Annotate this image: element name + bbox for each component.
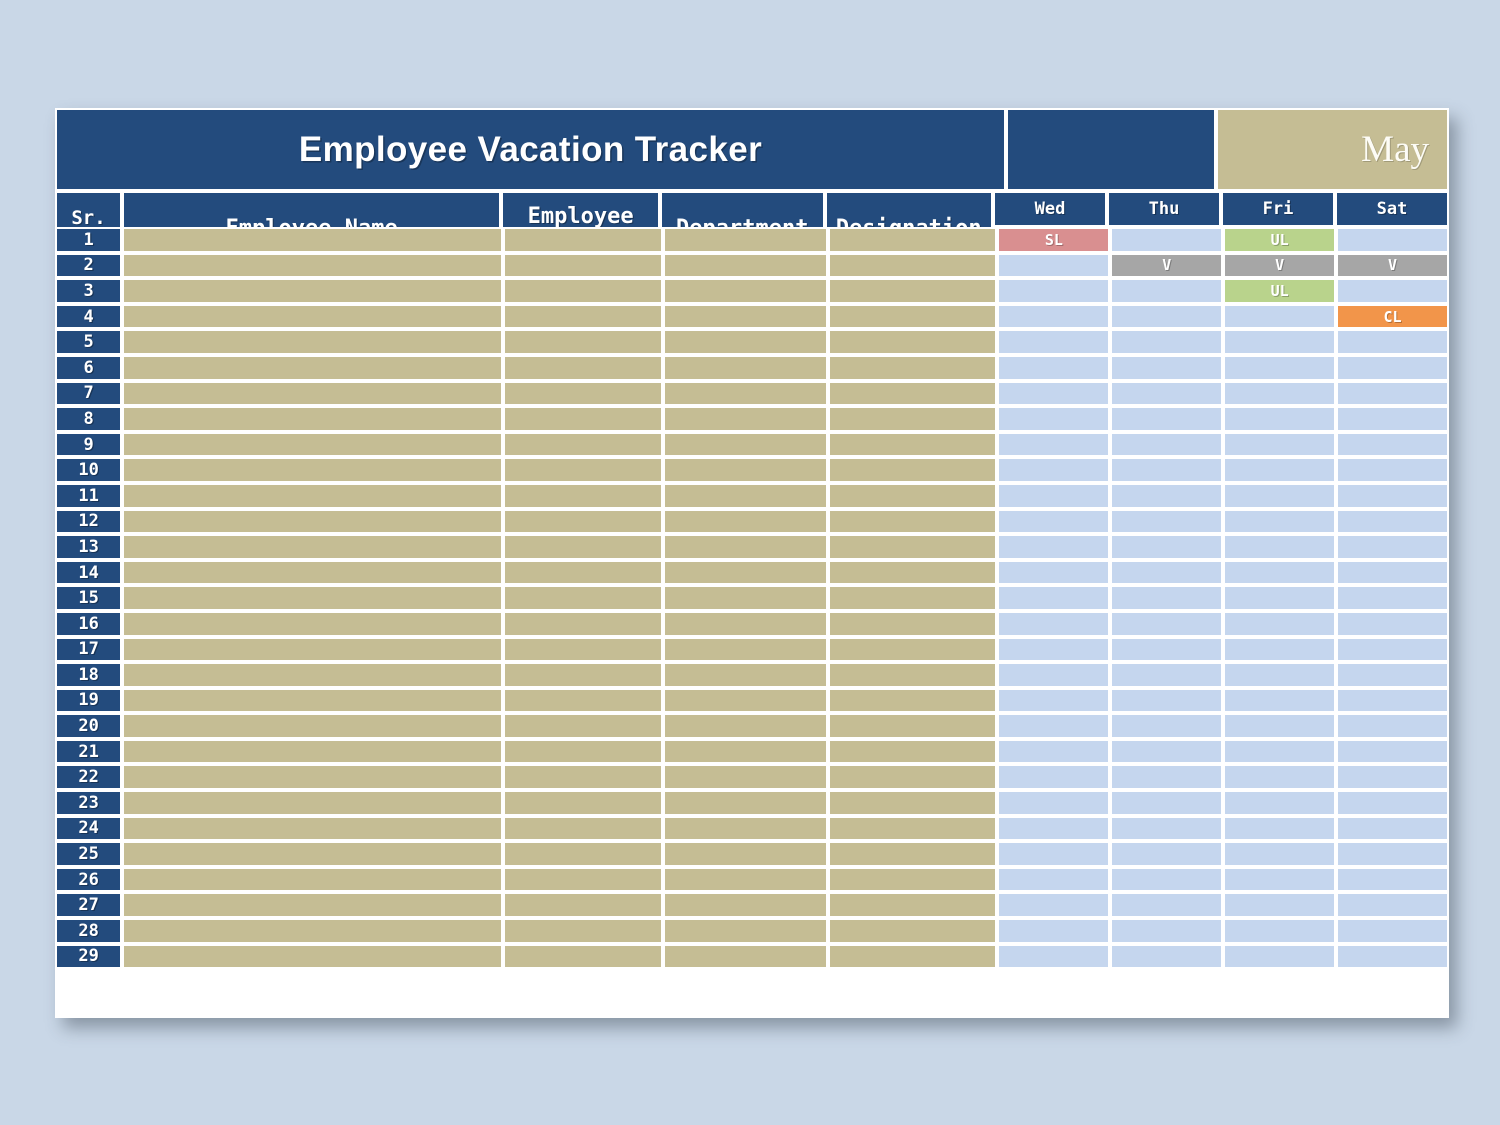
cell-day-2-May-row-12[interactable] <box>1110 509 1223 535</box>
cell-employee-id-6[interactable] <box>503 355 662 381</box>
cell-day-1-May-row-6[interactable] <box>997 355 1110 381</box>
cell-day-2-May-row-6[interactable] <box>1110 355 1223 381</box>
table-row: 5 <box>55 329 1449 355</box>
cell-day-1-May-row-13[interactable] <box>997 534 1110 560</box>
cell-day-1-May-row-11[interactable] <box>997 483 1110 509</box>
cell-employee-id-28[interactable] <box>503 918 662 944</box>
cell-department-26[interactable] <box>663 867 828 893</box>
cell-employee-id-4[interactable] <box>503 304 662 330</box>
cell-day-2-May-row-8[interactable] <box>1110 406 1223 432</box>
cell-day-3-May-row-6[interactable] <box>1223 355 1336 381</box>
cell-employee-id-21[interactable] <box>503 739 662 765</box>
cell-employee-name-8[interactable] <box>122 406 503 432</box>
header-dow-2: Fri <box>1221 191 1335 227</box>
table-row: 16 <box>55 611 1449 637</box>
cell-designation-3[interactable] <box>828 278 997 304</box>
cell-day-4-May-row-12[interactable] <box>1336 509 1449 535</box>
cell-day-1-May-row-2[interactable] <box>997 253 1110 279</box>
cell-day-4-May-row-29[interactable] <box>1336 944 1449 970</box>
cell-day-2-May-row-25[interactable] <box>1110 841 1223 867</box>
cell-day-1-May-row-5[interactable] <box>997 329 1110 355</box>
table-row: 13 <box>55 534 1449 560</box>
cell-day-1-May-row-27[interactable] <box>997 892 1110 918</box>
cell-designation-20[interactable] <box>828 713 997 739</box>
cell-day-3-May-row-28[interactable] <box>1223 918 1336 944</box>
cell-employee-id-27[interactable] <box>503 892 662 918</box>
row-number-21: 21 <box>55 739 122 765</box>
table-row: 12 <box>55 509 1449 535</box>
vacation-tracker-sheet: Employee Vacation Tracker May Sr. No. <box>55 108 1449 1018</box>
cell-day-2-May-row-24[interactable] <box>1110 816 1223 842</box>
page-title-cell: Employee Vacation Tracker <box>55 108 1006 191</box>
cell-designation-14[interactable] <box>828 560 997 586</box>
cell-day-1-May-row-8[interactable] <box>997 406 1110 432</box>
table-row: 10 <box>55 457 1449 483</box>
cell-employee-name-7[interactable] <box>122 381 503 407</box>
cell-designation-18[interactable] <box>828 662 997 688</box>
sheet-grid: Employee Vacation Tracker May Sr. No. <box>55 108 1449 969</box>
cell-day-4-May-row-19[interactable] <box>1336 688 1449 714</box>
cell-department-28[interactable] <box>663 918 828 944</box>
title-spacer-cell <box>1006 108 1216 191</box>
cell-day-3-May-row-10[interactable] <box>1223 457 1336 483</box>
header-dow-0: Wed <box>993 191 1107 227</box>
header-dow-1: Thu <box>1107 191 1221 227</box>
table-row: 2VVV <box>55 253 1449 279</box>
cell-day-2-May-row-11[interactable] <box>1110 483 1223 509</box>
cell-day-2-May-row-22[interactable] <box>1110 764 1223 790</box>
cell-day-3-May-row-19[interactable] <box>1223 688 1336 714</box>
cell-employee-name-27[interactable] <box>122 892 503 918</box>
cell-day-2-May-row-3[interactable] <box>1110 278 1223 304</box>
cell-day-3-May-row-9[interactable] <box>1223 432 1336 458</box>
cell-designation-17[interactable] <box>828 637 997 663</box>
cell-day-3-May-row-24[interactable] <box>1223 816 1336 842</box>
row-number-4: 4 <box>55 304 122 330</box>
cell-employee-name-25[interactable] <box>122 841 503 867</box>
cell-designation-2[interactable] <box>828 253 997 279</box>
cell-employee-name-19[interactable] <box>122 688 503 714</box>
cell-employee-name-10[interactable] <box>122 457 503 483</box>
table-row: 22 <box>55 764 1449 790</box>
row-number-24: 24 <box>55 816 122 842</box>
cell-day-4-May-row-18[interactable] <box>1336 662 1449 688</box>
table-row: 4CL <box>55 304 1449 330</box>
cell-department-12[interactable] <box>663 509 828 535</box>
cell-department-7[interactable] <box>663 381 828 407</box>
cell-day-4-May-row-5[interactable] <box>1336 329 1449 355</box>
cell-day-2-May-row-26[interactable] <box>1110 867 1223 893</box>
page-title: Employee Vacation Tracker <box>57 110 1004 189</box>
cell-day-4-May-row-17[interactable] <box>1336 637 1449 663</box>
cell-designation-11[interactable] <box>828 483 997 509</box>
cell-day-1-May-row-4[interactable] <box>997 304 1110 330</box>
cell-day-1-May-row-28[interactable] <box>997 918 1110 944</box>
status-UL-3-May-row-1[interactable]: UL <box>1223 227 1336 253</box>
cell-employee-id-19[interactable] <box>503 688 662 714</box>
cell-employee-id-17[interactable] <box>503 637 662 663</box>
cell-employee-id-10[interactable] <box>503 457 662 483</box>
cell-employee-id-25[interactable] <box>503 841 662 867</box>
table-row: 26 <box>55 867 1449 893</box>
cell-employee-id-18[interactable] <box>503 662 662 688</box>
cell-day-3-May-row-23[interactable] <box>1223 790 1336 816</box>
row-number-25: 25 <box>55 841 122 867</box>
row-number-26: 26 <box>55 867 122 893</box>
cell-department-20[interactable] <box>663 713 828 739</box>
cell-employee-name-26[interactable] <box>122 867 503 893</box>
cell-employee-name-16[interactable] <box>122 611 503 637</box>
cell-day-4-May-row-10[interactable] <box>1336 457 1449 483</box>
cell-designation-23[interactable] <box>828 790 997 816</box>
cell-day-3-May-row-12[interactable] <box>1223 509 1336 535</box>
cell-day-3-May-row-7[interactable] <box>1223 381 1336 407</box>
cell-department-18[interactable] <box>663 662 828 688</box>
cell-day-4-May-row-8[interactable] <box>1336 406 1449 432</box>
cell-day-3-May-row-11[interactable] <box>1223 483 1336 509</box>
cell-day-1-May-row-29[interactable] <box>997 944 1110 970</box>
cell-employee-name-22[interactable] <box>122 764 503 790</box>
cell-designation-13[interactable] <box>828 534 997 560</box>
cell-day-4-May-row-9[interactable] <box>1336 432 1449 458</box>
cell-day-2-May-row-7[interactable] <box>1110 381 1223 407</box>
cell-department-9[interactable] <box>663 432 828 458</box>
status-V-2-May-row-2[interactable]: V <box>1110 253 1223 279</box>
cell-department-8[interactable] <box>663 406 828 432</box>
cell-employee-name-14[interactable] <box>122 560 503 586</box>
cell-day-2-May-row-21[interactable] <box>1110 739 1223 765</box>
cell-day-3-May-row-21[interactable] <box>1223 739 1336 765</box>
row-number-3: 3 <box>55 278 122 304</box>
cell-designation-25[interactable] <box>828 841 997 867</box>
cell-day-1-May-row-15[interactable] <box>997 585 1110 611</box>
row-number-1: 1 <box>55 227 122 253</box>
cell-day-4-May-row-20[interactable] <box>1336 713 1449 739</box>
cell-department-17[interactable] <box>663 637 828 663</box>
cell-department-11[interactable] <box>663 483 828 509</box>
table-row: 21 <box>55 739 1449 765</box>
cell-day-4-May-row-1[interactable] <box>1336 227 1449 253</box>
cell-department-4[interactable] <box>663 304 828 330</box>
cell-designation-9[interactable] <box>828 432 997 458</box>
cell-employee-id-5[interactable] <box>503 329 662 355</box>
cell-employee-name-3[interactable] <box>122 278 503 304</box>
cell-day-1-May-row-18[interactable] <box>997 662 1110 688</box>
cell-day-2-May-row-5[interactable] <box>1110 329 1223 355</box>
cell-employee-id-3[interactable] <box>503 278 662 304</box>
status-UL-3-May-row-3[interactable]: UL <box>1223 278 1336 304</box>
row-number-2: 2 <box>55 253 122 279</box>
cell-employee-id-15[interactable] <box>503 585 662 611</box>
row-number-7: 7 <box>55 381 122 407</box>
cell-department-3[interactable] <box>663 278 828 304</box>
status-V-3-May-row-2[interactable]: V <box>1223 253 1336 279</box>
cell-department-24[interactable] <box>663 816 828 842</box>
cell-day-4-May-row-16[interactable] <box>1336 611 1449 637</box>
cell-day-1-May-row-19[interactable] <box>997 688 1110 714</box>
cell-employee-name-4[interactable] <box>122 304 503 330</box>
cell-employee-id-26[interactable] <box>503 867 662 893</box>
cell-department-10[interactable] <box>663 457 828 483</box>
header-employee-id-line1: Employee <box>528 205 634 230</box>
cell-employee-id-7[interactable] <box>503 381 662 407</box>
cell-department-16[interactable] <box>663 611 828 637</box>
cell-day-1-May-row-12[interactable] <box>997 509 1110 535</box>
title-spacer <box>1008 110 1214 189</box>
row-number-14: 14 <box>55 560 122 586</box>
cell-employee-name-12[interactable] <box>122 509 503 535</box>
cell-employee-id-16[interactable] <box>503 611 662 637</box>
cell-day-3-May-row-8[interactable] <box>1223 406 1336 432</box>
table-row: 1SLUL <box>55 227 1449 253</box>
cell-day-4-May-row-15[interactable] <box>1336 585 1449 611</box>
cell-designation-21[interactable] <box>828 739 997 765</box>
cell-employee-id-13[interactable] <box>503 534 662 560</box>
cell-day-1-May-row-22[interactable] <box>997 764 1110 790</box>
table-row: 3UL <box>55 278 1449 304</box>
cell-employee-name-13[interactable] <box>122 534 503 560</box>
cell-employee-id-8[interactable] <box>503 406 662 432</box>
cell-day-4-May-row-25[interactable] <box>1336 841 1449 867</box>
cell-day-4-May-row-24[interactable] <box>1336 816 1449 842</box>
header-dow-3: Sat <box>1335 191 1449 227</box>
cell-day-2-May-row-28[interactable] <box>1110 918 1223 944</box>
cell-designation-12[interactable] <box>828 509 997 535</box>
cell-day-1-May-row-17[interactable] <box>997 637 1110 663</box>
cell-day-3-May-row-14[interactable] <box>1223 560 1336 586</box>
table-row: 23 <box>55 790 1449 816</box>
cell-employee-id-20[interactable] <box>503 713 662 739</box>
cell-designation-10[interactable] <box>828 457 997 483</box>
cell-day-3-May-row-13[interactable] <box>1223 534 1336 560</box>
cell-employee-name-9[interactable] <box>122 432 503 458</box>
cell-employee-name-23[interactable] <box>122 790 503 816</box>
cell-designation-28[interactable] <box>828 918 997 944</box>
cell-designation-4[interactable] <box>828 304 997 330</box>
row-number-23: 23 <box>55 790 122 816</box>
header-row-dow: Sr. No. Employee Name Employee ID Depart… <box>55 191 1449 227</box>
cell-designation-24[interactable] <box>828 816 997 842</box>
cell-department-19[interactable] <box>663 688 828 714</box>
cell-designation-7[interactable] <box>828 381 997 407</box>
cell-employee-name-5[interactable] <box>122 329 503 355</box>
cell-day-2-May-row-1[interactable] <box>1110 227 1223 253</box>
cell-employee-id-11[interactable] <box>503 483 662 509</box>
cell-day-3-May-row-25[interactable] <box>1223 841 1336 867</box>
cell-designation-27[interactable] <box>828 892 997 918</box>
row-number-13: 13 <box>55 534 122 560</box>
cell-day-3-May-row-17[interactable] <box>1223 637 1336 663</box>
cell-day-2-May-row-17[interactable] <box>1110 637 1223 663</box>
cell-department-5[interactable] <box>663 329 828 355</box>
row-number-12: 12 <box>55 509 122 535</box>
cell-department-21[interactable] <box>663 739 828 765</box>
cell-department-1[interactable] <box>663 227 828 253</box>
cell-day-2-May-row-14[interactable] <box>1110 560 1223 586</box>
cell-department-27[interactable] <box>663 892 828 918</box>
cell-designation-1[interactable] <box>828 227 997 253</box>
cell-day-2-May-row-27[interactable] <box>1110 892 1223 918</box>
cell-department-22[interactable] <box>663 764 828 790</box>
table-row: 28 <box>55 918 1449 944</box>
cell-employee-name-28[interactable] <box>122 918 503 944</box>
cell-employee-name-2[interactable] <box>122 253 503 279</box>
cell-designation-8[interactable] <box>828 406 997 432</box>
cell-designation-5[interactable] <box>828 329 997 355</box>
cell-day-4-May-row-6[interactable] <box>1336 355 1449 381</box>
cell-day-4-May-row-22[interactable] <box>1336 764 1449 790</box>
table-row: 7 <box>55 381 1449 407</box>
cell-day-4-May-row-13[interactable] <box>1336 534 1449 560</box>
cell-day-2-May-row-16[interactable] <box>1110 611 1223 637</box>
cell-day-1-May-row-16[interactable] <box>997 611 1110 637</box>
table-row: 20 <box>55 713 1449 739</box>
row-number-16: 16 <box>55 611 122 637</box>
cell-day-3-May-row-29[interactable] <box>1223 944 1336 970</box>
row-number-18: 18 <box>55 662 122 688</box>
cell-employee-name-1[interactable] <box>122 227 503 253</box>
cell-day-1-May-row-21[interactable] <box>997 739 1110 765</box>
cell-designation-15[interactable] <box>828 585 997 611</box>
cell-department-29[interactable] <box>663 944 828 970</box>
cell-day-3-May-row-26[interactable] <box>1223 867 1336 893</box>
cell-day-1-May-row-7[interactable] <box>997 381 1110 407</box>
cell-day-1-May-row-10[interactable] <box>997 457 1110 483</box>
cell-day-1-May-row-26[interactable] <box>997 867 1110 893</box>
cell-employee-id-29[interactable] <box>503 944 662 970</box>
row-number-10: 10 <box>55 457 122 483</box>
table-body: 1SLUL2VVV3UL4CL5678910111213141516171819… <box>55 227 1449 969</box>
cell-day-4-May-row-3[interactable] <box>1336 278 1449 304</box>
cell-day-1-May-row-3[interactable] <box>997 278 1110 304</box>
table-row: 14 <box>55 560 1449 586</box>
cell-employee-id-24[interactable] <box>503 816 662 842</box>
cell-day-2-May-row-29[interactable] <box>1110 944 1223 970</box>
cell-day-1-May-row-20[interactable] <box>997 713 1110 739</box>
cell-day-4-May-row-21[interactable] <box>1336 739 1449 765</box>
cell-department-2[interactable] <box>663 253 828 279</box>
month-label: May <box>1218 110 1447 189</box>
cell-designation-6[interactable] <box>828 355 997 381</box>
cell-day-4-May-row-28[interactable] <box>1336 918 1449 944</box>
cell-day-2-May-row-23[interactable] <box>1110 790 1223 816</box>
cell-day-4-May-row-27[interactable] <box>1336 892 1449 918</box>
cell-day-1-May-row-24[interactable] <box>997 816 1110 842</box>
table-row: 24 <box>55 816 1449 842</box>
cell-employee-name-6[interactable] <box>122 355 503 381</box>
cell-designation-19[interactable] <box>828 688 997 714</box>
table-row: 6 <box>55 355 1449 381</box>
cell-designation-26[interactable] <box>828 867 997 893</box>
row-number-5: 5 <box>55 329 122 355</box>
cell-day-3-May-row-20[interactable] <box>1223 713 1336 739</box>
cell-designation-29[interactable] <box>828 944 997 970</box>
table-row: 15 <box>55 585 1449 611</box>
cell-employee-id-23[interactable] <box>503 790 662 816</box>
cell-day-4-May-row-23[interactable] <box>1336 790 1449 816</box>
cell-day-3-May-row-18[interactable] <box>1223 662 1336 688</box>
cell-employee-name-18[interactable] <box>122 662 503 688</box>
cell-designation-22[interactable] <box>828 764 997 790</box>
cell-day-2-May-row-13[interactable] <box>1110 534 1223 560</box>
cell-day-3-May-row-4[interactable] <box>1223 304 1336 330</box>
cell-day-1-May-row-23[interactable] <box>997 790 1110 816</box>
cell-day-3-May-row-15[interactable] <box>1223 585 1336 611</box>
cell-day-1-May-row-9[interactable] <box>997 432 1110 458</box>
cell-department-6[interactable] <box>663 355 828 381</box>
cell-day-2-May-row-19[interactable] <box>1110 688 1223 714</box>
row-number-29: 29 <box>55 944 122 970</box>
cell-day-3-May-row-27[interactable] <box>1223 892 1336 918</box>
cell-day-4-May-row-7[interactable] <box>1336 381 1449 407</box>
cell-employee-id-9[interactable] <box>503 432 662 458</box>
status-CL-4-May-row-4[interactable]: CL <box>1336 304 1449 330</box>
cell-day-1-May-row-14[interactable] <box>997 560 1110 586</box>
month-cell[interactable]: May <box>1216 108 1449 191</box>
cell-day-2-May-row-15[interactable] <box>1110 585 1223 611</box>
cell-department-13[interactable] <box>663 534 828 560</box>
cell-employee-name-21[interactable] <box>122 739 503 765</box>
cell-department-23[interactable] <box>663 790 828 816</box>
row-number-20: 20 <box>55 713 122 739</box>
table-row: 25 <box>55 841 1449 867</box>
cell-day-3-May-row-22[interactable] <box>1223 764 1336 790</box>
cell-day-4-May-row-26[interactable] <box>1336 867 1449 893</box>
table-row: 11 <box>55 483 1449 509</box>
row-number-6: 6 <box>55 355 122 381</box>
cell-employee-name-15[interactable] <box>122 585 503 611</box>
status-V-4-May-row-2[interactable]: V <box>1336 253 1449 279</box>
cell-employee-id-2[interactable] <box>503 253 662 279</box>
row-number-19: 19 <box>55 688 122 714</box>
cell-day-1-May-row-25[interactable] <box>997 841 1110 867</box>
status-SL-1-May-row-1[interactable]: SL <box>997 227 1110 253</box>
cell-employee-name-20[interactable] <box>122 713 503 739</box>
cell-designation-16[interactable] <box>828 611 997 637</box>
cell-day-2-May-row-10[interactable] <box>1110 457 1223 483</box>
cell-day-2-May-row-20[interactable] <box>1110 713 1223 739</box>
row-number-8: 8 <box>55 406 122 432</box>
table-row: 9 <box>55 432 1449 458</box>
cell-department-15[interactable] <box>663 585 828 611</box>
cell-day-4-May-row-11[interactable] <box>1336 483 1449 509</box>
cell-department-14[interactable] <box>663 560 828 586</box>
table-row: 17 <box>55 637 1449 663</box>
cell-employee-id-22[interactable] <box>503 764 662 790</box>
cell-department-25[interactable] <box>663 841 828 867</box>
cell-day-2-May-row-4[interactable] <box>1110 304 1223 330</box>
row-number-22: 22 <box>55 764 122 790</box>
cell-day-3-May-row-5[interactable] <box>1223 329 1336 355</box>
cell-employee-id-1[interactable] <box>503 227 662 253</box>
cell-employee-id-14[interactable] <box>503 560 662 586</box>
row-number-11: 11 <box>55 483 122 509</box>
table-row: 29 <box>55 944 1449 970</box>
cell-day-4-May-row-14[interactable] <box>1336 560 1449 586</box>
cell-day-2-May-row-18[interactable] <box>1110 662 1223 688</box>
row-number-27: 27 <box>55 892 122 918</box>
row-number-9: 9 <box>55 432 122 458</box>
cell-day-3-May-row-16[interactable] <box>1223 611 1336 637</box>
cell-employee-id-12[interactable] <box>503 509 662 535</box>
cell-day-2-May-row-9[interactable] <box>1110 432 1223 458</box>
table-row: 27 <box>55 892 1449 918</box>
cell-employee-name-29[interactable] <box>122 944 503 970</box>
dow-row: Wed Thu Fri Sat <box>993 191 1449 227</box>
cell-employee-name-24[interactable] <box>122 816 503 842</box>
cell-employee-name-11[interactable] <box>122 483 503 509</box>
cell-employee-name-17[interactable] <box>122 637 503 663</box>
